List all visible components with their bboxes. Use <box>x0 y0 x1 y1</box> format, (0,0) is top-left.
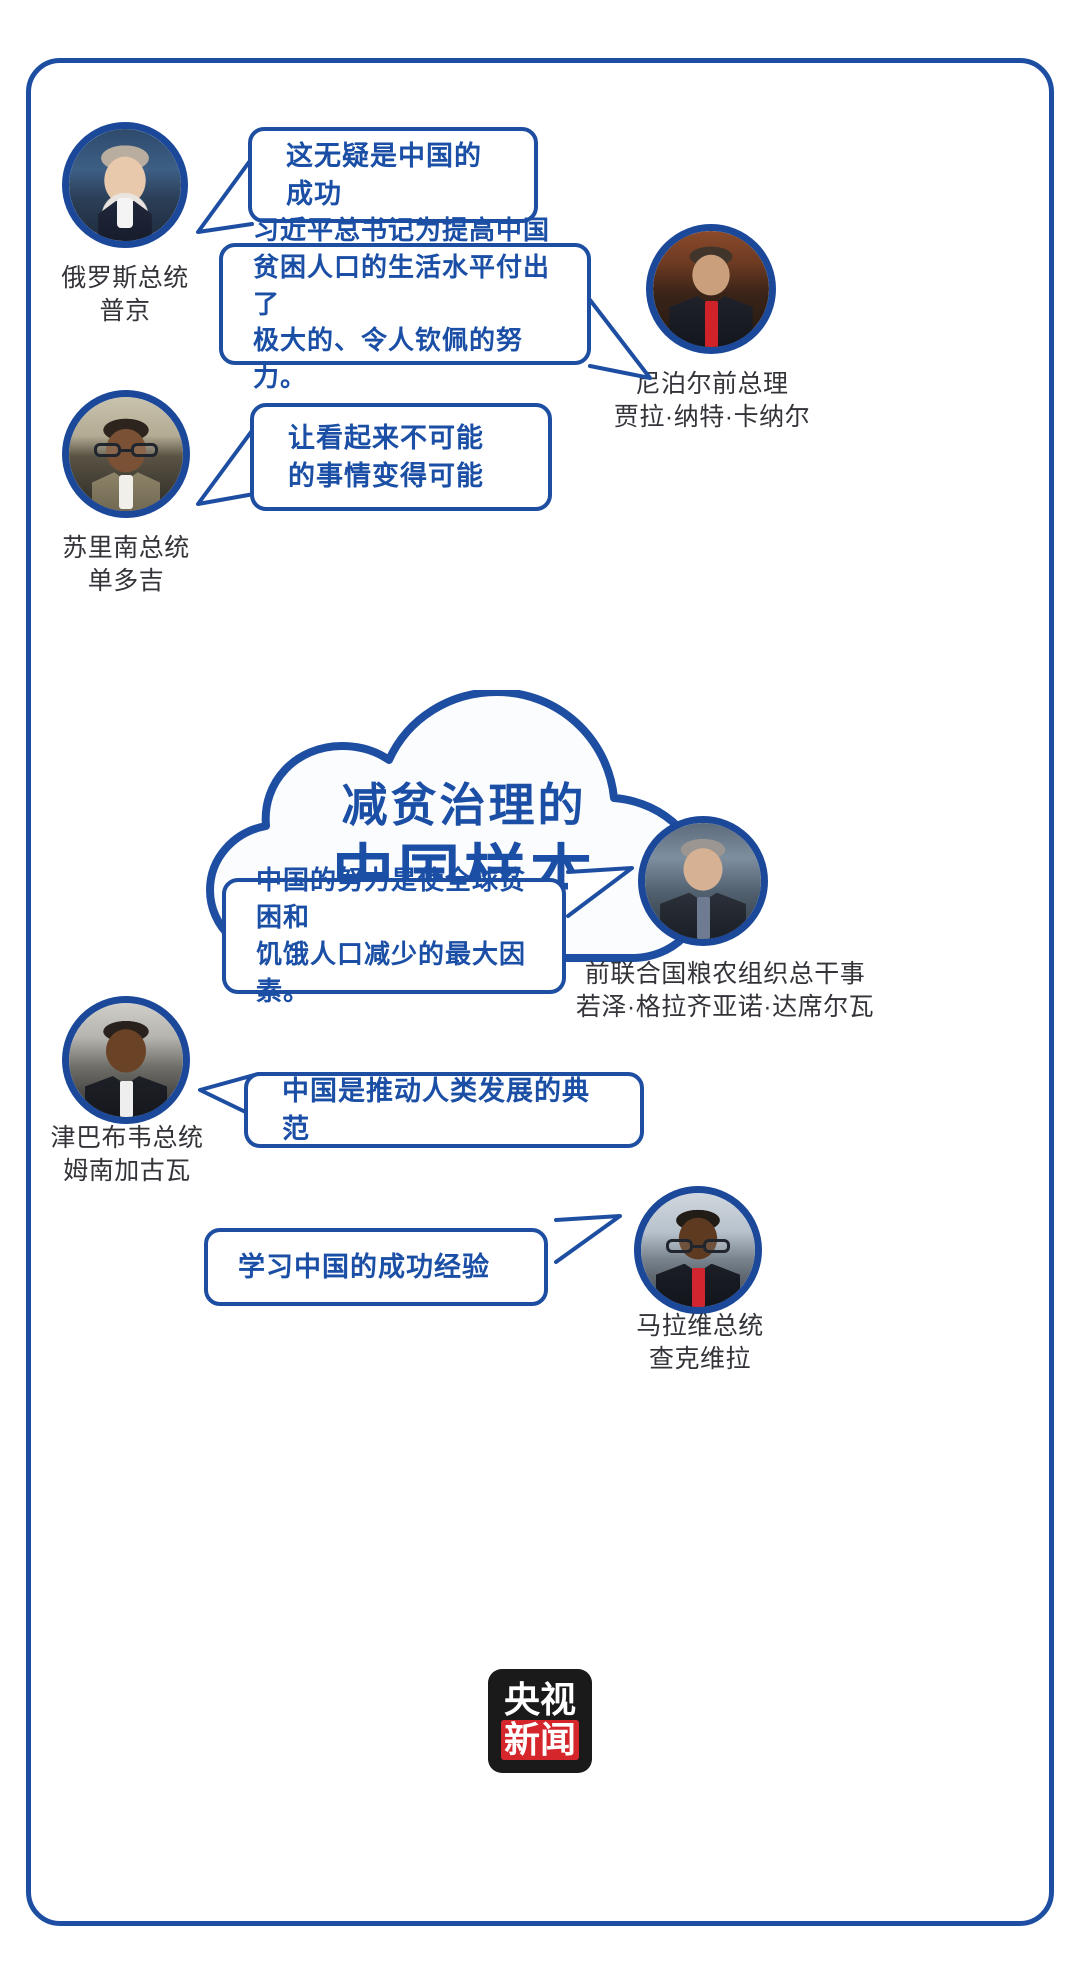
cctv-news-logo[interactable]: 央视 新闻 <box>488 1669 592 1773</box>
logo-row-top: 央视 <box>504 1682 576 1718</box>
quote-text-santokhi: 让看起来不可能 的事情变得可能 <box>288 419 522 496</box>
portrait-graziano-avatar <box>638 816 768 946</box>
quote-text-chakwera: 学习中国的成功经验 <box>238 1248 510 1286</box>
caption-santokhi: 苏里南总统 单多吉 <box>35 532 217 598</box>
caption-graziano: 前联合国粮农组织总干事 若泽·格拉齐亚诺·达席尔瓦 <box>560 958 890 1024</box>
quote-bubble-khanal: 习近平总书记为提高中国 贫困人口的生活水平付出了 极大的、令人钦佩的努力。 <box>219 243 591 365</box>
speech-tail-chakwera <box>546 1210 626 1272</box>
logo-text-yangshi: 央视 <box>504 1682 576 1718</box>
glasses-icon-chakwera <box>666 1239 730 1254</box>
infographic-poster: 俄罗斯总统 普京 这无疑是中国的成功 尼泊尔前总理 贾拉·纳特·卡纳尔 习近平总… <box>0 0 1080 1982</box>
quote-text-graziano: 中国的努力是使全球贫困和 饥饿人口减少的最大因素。 <box>256 862 528 1010</box>
portrait-santokhi-avatar <box>62 390 190 518</box>
quote-bubble-mnangagwa: 中国是推动人类发展的典范 <box>244 1072 644 1148</box>
glasses-icon <box>94 443 158 458</box>
logo-text-xinwen: 新闻 <box>501 1720 579 1760</box>
portrait-mnangagwa-avatar <box>62 996 190 1124</box>
quote-bubble-chakwera: 学习中国的成功经验 <box>204 1228 548 1306</box>
portrait-khanal-avatar <box>646 224 776 354</box>
caption-mnangagwa: 津巴布韦总统 姆南加古瓦 <box>32 1122 222 1188</box>
speech-tail-graziano <box>556 862 638 924</box>
caption-chakwera: 马拉维总统 查克维拉 <box>600 1310 800 1376</box>
speech-tail-khanal <box>580 290 658 386</box>
quote-bubble-santokhi: 让看起来不可能 的事情变得可能 <box>250 403 552 511</box>
quote-text-mnangagwa: 中国是推动人类发展的典范 <box>282 1072 614 1149</box>
quote-text-khanal: 习近平总书记为提高中国 贫困人口的生活水平付出了 极大的、令人钦佩的努力。 <box>253 212 553 397</box>
cloud-title-line1: 减贫治理的 <box>196 778 732 832</box>
quote-bubble-graziano: 中国的努力是使全球贫困和 饥饿人口减少的最大因素。 <box>222 878 566 994</box>
caption-putin: 俄罗斯总统 普京 <box>35 262 215 328</box>
quote-bubble-putin: 这无疑是中国的成功 <box>248 127 538 223</box>
portrait-putin-avatar <box>62 122 188 248</box>
portrait-chakwera-avatar <box>634 1186 762 1314</box>
quote-text-putin: 这无疑是中国的成功 <box>286 137 508 214</box>
logo-row-bottom: 新闻 <box>501 1720 579 1760</box>
